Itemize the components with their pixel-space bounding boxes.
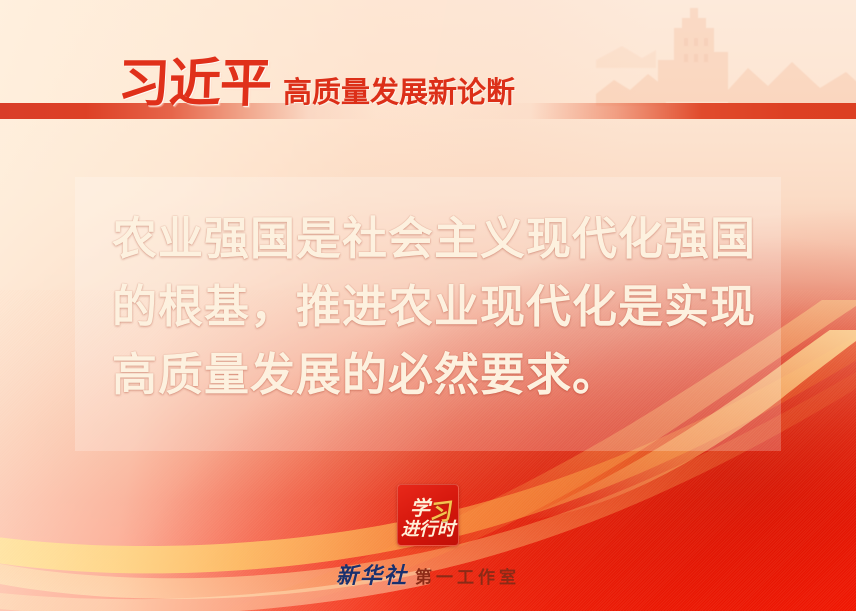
logo-badge-top-row: 学 习 bbox=[398, 492, 458, 520]
branding-block: 学 习 进行时 新华社 第一工作室 bbox=[0, 484, 856, 590]
poster-canvas: 习近平 高质量发展新论断 农业强国是社会主义现代化强国 的根基，推进农业现代化是… bbox=[0, 0, 856, 611]
xuexi-jinxingshi-logo: 学 习 进行时 bbox=[397, 484, 459, 546]
quote-line: 的根基，推进农业现代化是实现 bbox=[112, 273, 752, 341]
agency-studio-text: 第一工作室 bbox=[415, 563, 520, 588]
title-subtitle-text: 高质量发展新论断 bbox=[283, 78, 515, 107]
agency-name-text: 新华社 bbox=[336, 558, 408, 590]
quote-line: 高质量发展的必然要求。 bbox=[112, 341, 752, 409]
logo-char-xi: 习 bbox=[426, 491, 453, 528]
agency-credit: 新华社 第一工作室 bbox=[336, 558, 520, 590]
title-main-text: 习近平 bbox=[117, 58, 272, 110]
poster-title: 习近平 高质量发展新论断 bbox=[118, 58, 515, 110]
quote-text-block: 农业强国是社会主义现代化强国 的根基，推进农业现代化是实现 高质量发展的必然要求… bbox=[112, 205, 752, 409]
quote-line: 农业强国是社会主义现代化强国 bbox=[112, 205, 752, 273]
